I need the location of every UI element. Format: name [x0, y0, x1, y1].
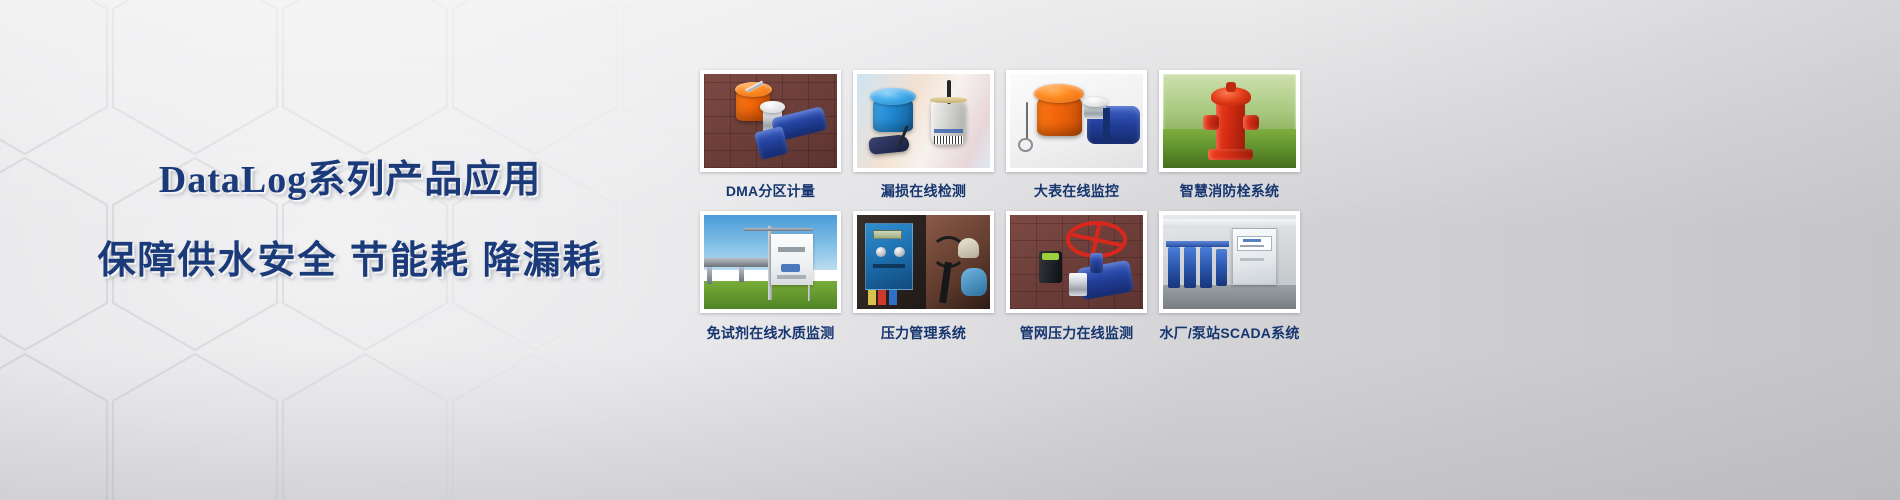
pressure-management-photo [857, 215, 990, 309]
bottom-sheen [0, 350, 1900, 500]
leak-detection-photo [857, 74, 990, 168]
product-caption: 管网压力在线监测 [1006, 323, 1147, 343]
water-quality-photo [704, 215, 837, 309]
headline-secondary: 保障供水安全 节能耗 降漏耗 [0, 229, 700, 284]
pipe-pressure-photo [1010, 215, 1143, 309]
right-sheen [1254, 0, 1900, 500]
product-application-banner: DataLog系列产品应用 保障供水安全 节能耗 降漏耗 [0, 0, 1900, 500]
product-thumbnail[interactable] [700, 211, 841, 313]
product-grid: DMA分区计量 [700, 70, 1300, 343]
product-caption: 免试剂在线水质监测 [700, 323, 841, 343]
product-thumbnail[interactable] [853, 211, 994, 313]
product-caption: 压力管理系统 [853, 323, 994, 343]
product-thumbnail[interactable] [1006, 211, 1147, 313]
product-thumbnail[interactable] [853, 70, 994, 172]
smart-hydrant-photo [1163, 74, 1296, 168]
product-caption: DMA分区计量 [700, 181, 841, 201]
product-caption: 大表在线监控 [1006, 181, 1147, 201]
product-caption: 漏损在线检测 [853, 181, 994, 201]
headline-primary: DataLog系列产品应用 [0, 148, 700, 203]
product-thumbnail[interactable] [1006, 70, 1147, 172]
product-card-water-quality[interactable]: 免试剂在线水质监测 [700, 211, 841, 343]
large-meter-photo [1010, 74, 1143, 168]
product-card-pipe-pressure[interactable]: 管网压力在线监测 [1006, 211, 1147, 343]
product-thumbnail[interactable] [1159, 211, 1300, 313]
product-thumbnail[interactable] [1159, 70, 1300, 172]
product-card-scada-system[interactable]: 水厂/泵站SCADA系统 [1159, 211, 1300, 343]
product-card-leak-detection[interactable]: 漏损在线检测 [853, 70, 994, 201]
product-card-pressure-management[interactable]: 压力管理系统 [853, 211, 994, 343]
product-caption: 智慧消防栓系统 [1159, 181, 1300, 201]
banner-headline: DataLog系列产品应用 保障供水安全 节能耗 降漏耗 [0, 148, 700, 284]
product-caption: 水厂/泵站SCADA系统 [1159, 323, 1300, 343]
dma-metering-photo [704, 74, 837, 168]
product-thumbnail[interactable] [700, 70, 841, 172]
product-card-large-meter[interactable]: 大表在线监控 [1006, 70, 1147, 201]
scada-system-photo [1163, 215, 1296, 309]
product-card-smart-hydrant[interactable]: 智慧消防栓系统 [1159, 70, 1300, 201]
product-card-dma-metering[interactable]: DMA分区计量 [700, 70, 841, 201]
